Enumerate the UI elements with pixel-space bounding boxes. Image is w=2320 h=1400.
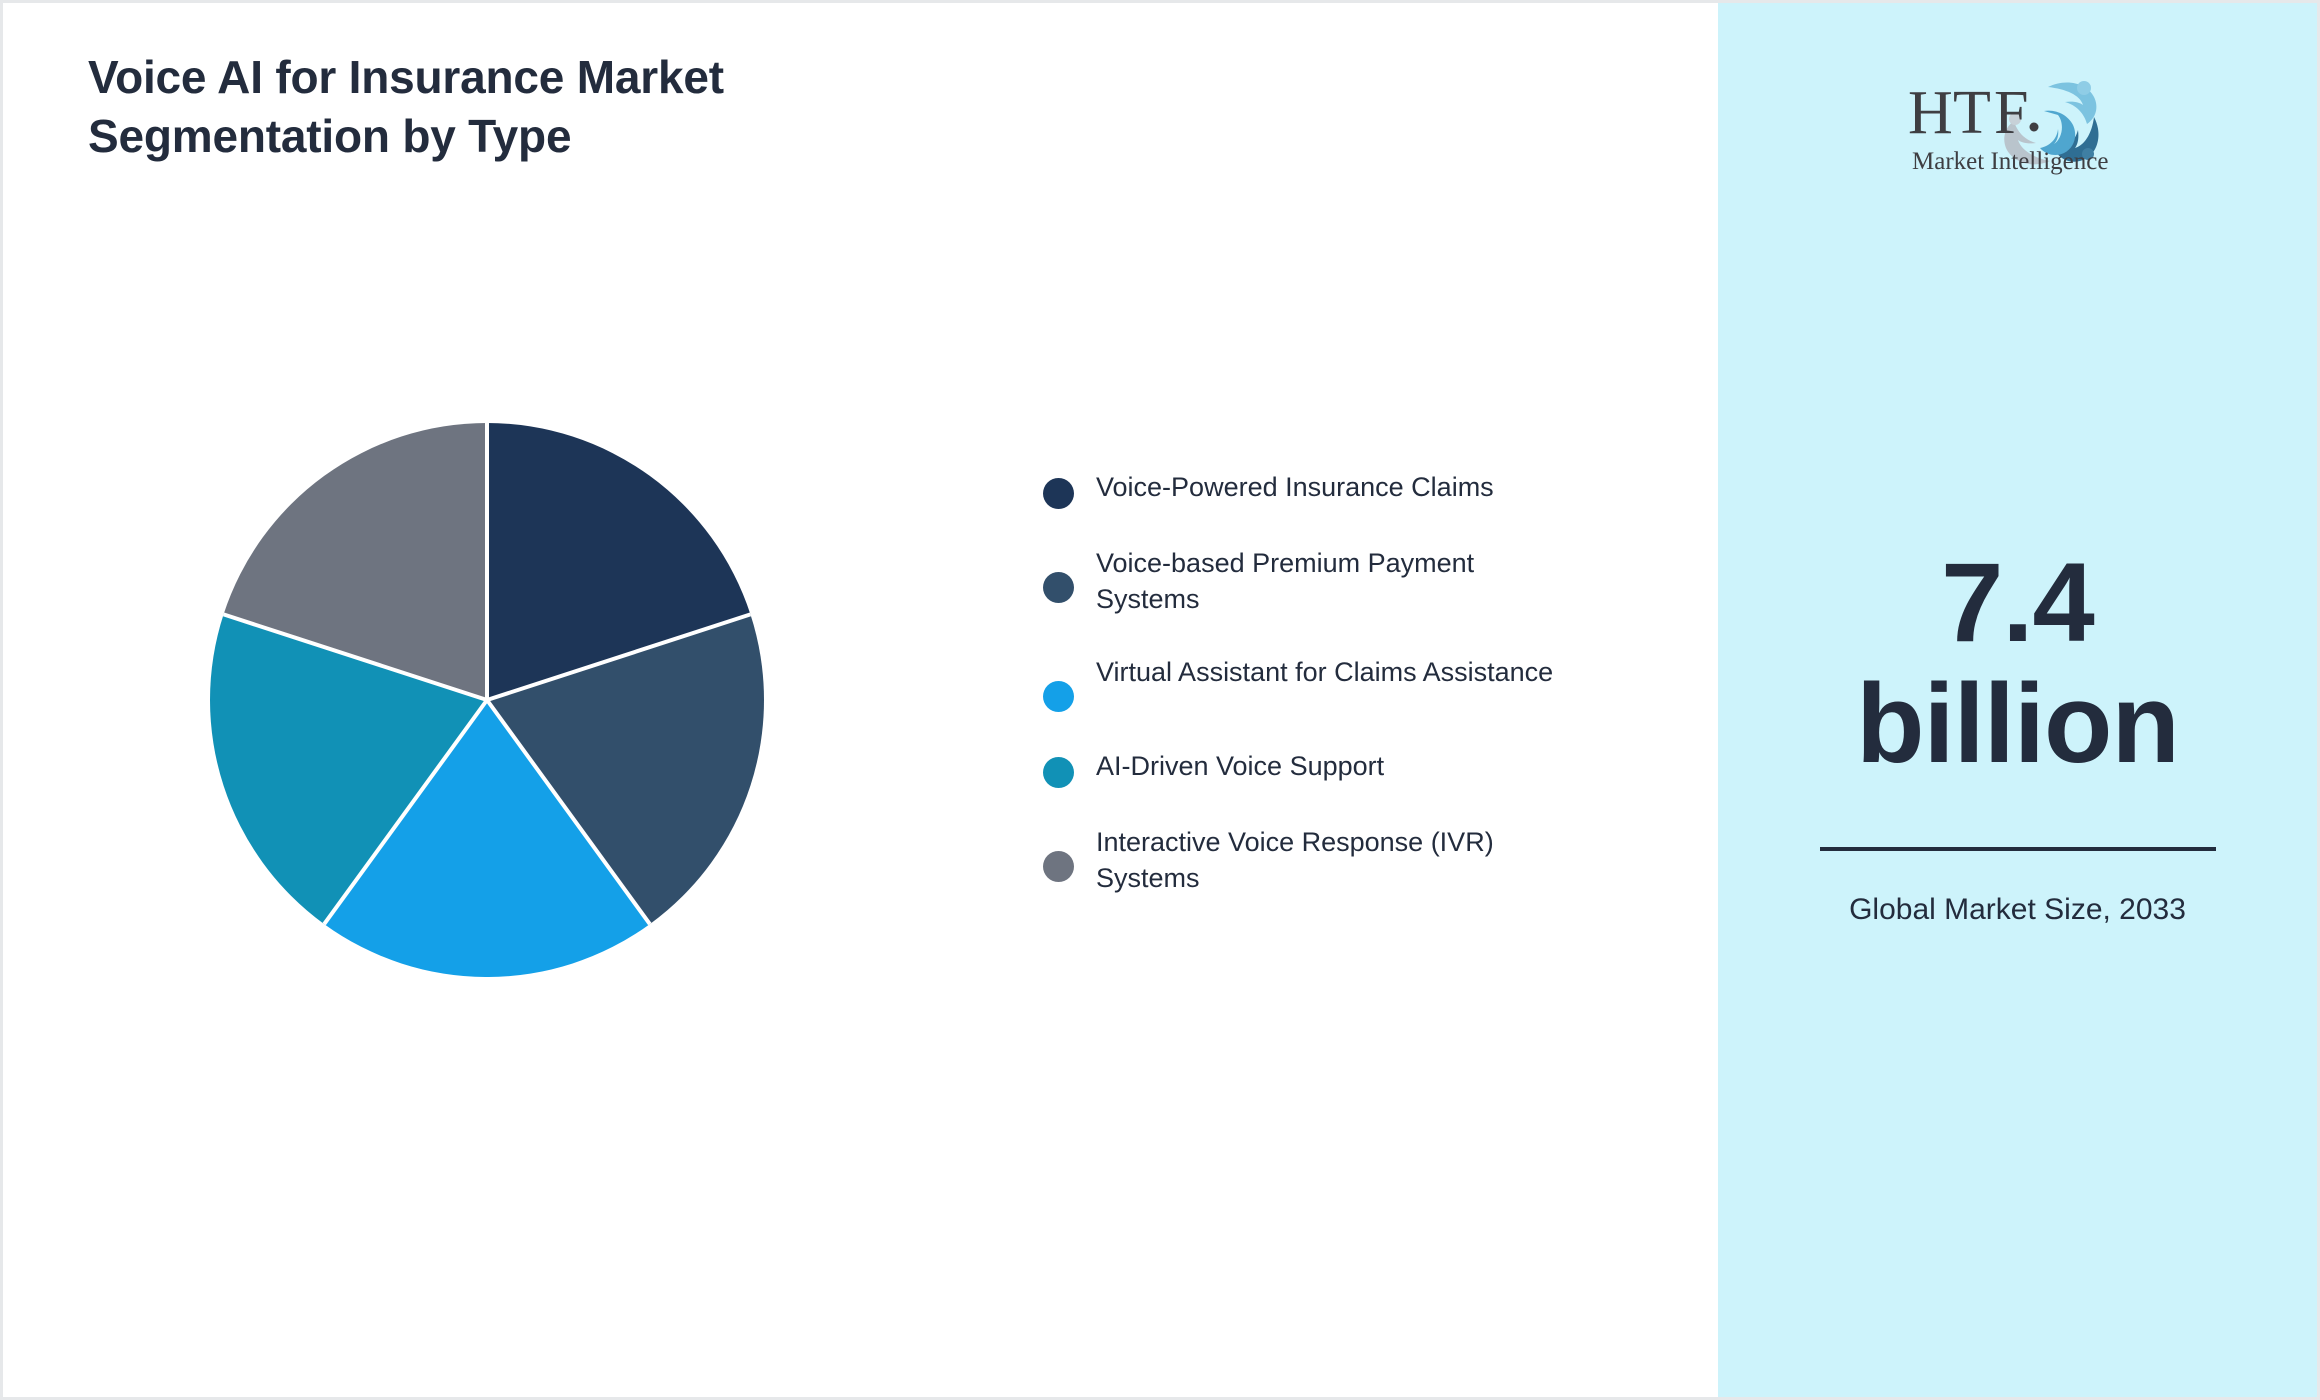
legend-swatch-icon (1043, 851, 1074, 882)
chart-panel: Voice AI for Insurance Market Segmentati… (3, 3, 1718, 1397)
logo-svg: H T F Market Intelligence (1898, 61, 2138, 179)
legend-item-label: AI-Driven Voice Support (1096, 748, 1384, 784)
stat-value: 7.4 billion (1718, 543, 2317, 785)
legend-item-label: Voice-based Premium Payment Systems (1096, 545, 1576, 618)
legend-swatch-icon (1043, 478, 1074, 509)
svg-text:F: F (1994, 79, 2028, 147)
legend-item-label: Virtual Assistant for Claims Assistance (1096, 654, 1553, 690)
infographic-page: Voice AI for Insurance Market Segmentati… (0, 0, 2320, 1400)
svg-text:T: T (1953, 79, 1991, 147)
list-item[interactable]: Interactive Voice Response (IVR) Systems (1043, 824, 1643, 897)
legend-swatch-icon (1043, 681, 1074, 712)
legend-swatch-icon (1043, 757, 1074, 788)
legend-swatch-icon (1043, 572, 1074, 603)
list-item[interactable]: Virtual Assistant for Claims Assistance (1043, 654, 1643, 712)
stat-caption: Global Market Size, 2033 (1718, 889, 2317, 932)
legend-item-label: Interactive Voice Response (IVR) Systems (1096, 824, 1576, 897)
logo-wordmark: H T F (1908, 79, 2039, 147)
pie-chart (210, 423, 764, 977)
logo-tagline: Market Intelligence (1912, 148, 2108, 175)
list-item[interactable]: Voice-based Premium Payment Systems (1043, 545, 1643, 618)
htf-market-intelligence-logo: H T F Market Intelligence (1898, 61, 2138, 179)
page-title: Voice AI for Insurance Market Segmentati… (88, 48, 988, 166)
stat-panel: H T F Market Intelligence 7.4 billion Gl… (1718, 3, 2317, 1397)
pie-chart-svg (210, 423, 764, 977)
legend-item-label: Voice-Powered Insurance Claims (1096, 469, 1494, 505)
divider (1820, 847, 2216, 851)
market-size-stat: 7.4 billion Global Market Size, 2033 (1718, 543, 2317, 932)
chart-legend: Voice-Powered Insurance Claims Voice-bas… (1043, 469, 1643, 897)
list-item[interactable]: AI-Driven Voice Support (1043, 748, 1643, 788)
svg-text:H: H (1908, 79, 1953, 147)
list-item[interactable]: Voice-Powered Insurance Claims (1043, 469, 1643, 509)
